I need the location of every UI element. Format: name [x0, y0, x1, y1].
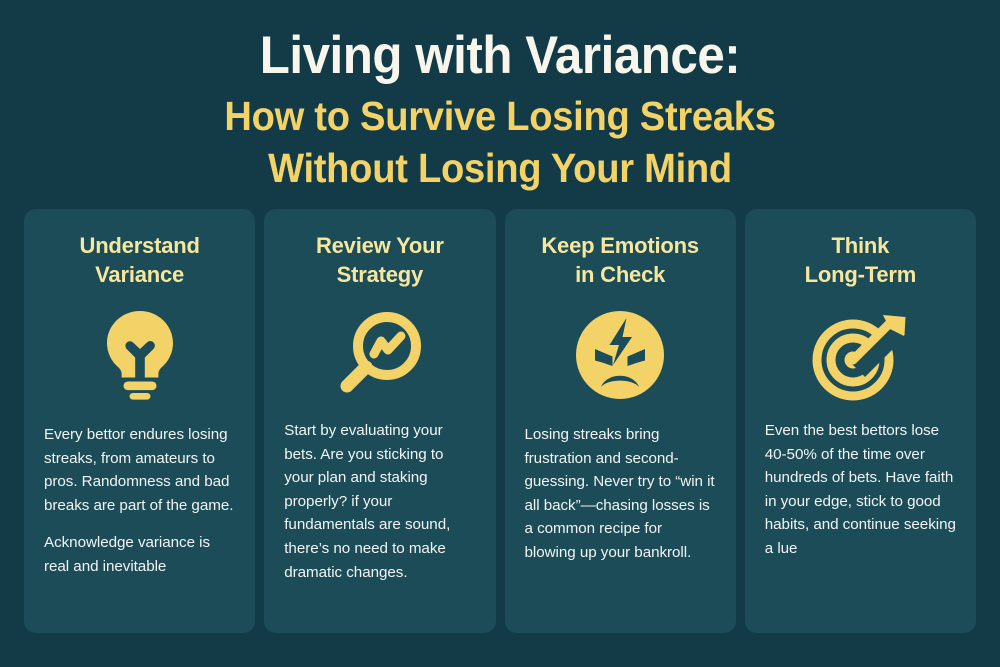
page-title: Living with Variance: [57, 28, 942, 84]
card-title-line-1: Understand [80, 231, 200, 260]
card-title: Think Long-Term [805, 231, 916, 290]
card-title-line-2: Variance [80, 260, 200, 289]
card-title-line-1: Think [805, 231, 916, 260]
card-paragraph: Losing streaks bring frustration and sec… [525, 423, 716, 565]
card-grid: Understand Variance Every bettor endures… [0, 209, 1000, 667]
card-body: Losing streaks bring frustration and sec… [525, 423, 716, 565]
card-body: Even the best bettors lose 40-50% of the… [765, 419, 956, 561]
card-body: Every bettor endures losing streaks, fro… [44, 423, 235, 579]
card-think-long-term[interactable]: Think Long-Term [745, 209, 976, 633]
card-paragraph: Even the best bettors lose 40-50% of the… [765, 419, 956, 561]
card-paragraph: Every bettor endures losing streaks, fro… [44, 423, 235, 517]
card-title-line-1: Keep Emotions [541, 231, 699, 260]
page-subtitle: How to Survive Losing Streaks Without Lo… [57, 90, 942, 195]
card-title: Review Your Strategy [316, 231, 444, 290]
card-title-line-2: Long-Term [805, 260, 916, 289]
card-keep-emotions-in-check[interactable]: Keep Emotions in Check [505, 209, 736, 633]
page-subtitle-line-1: How to Survive Losing Streaks [57, 90, 942, 142]
card-paragraph: Acknowledge variance is real and inevita… [44, 531, 235, 578]
card-title-line-2: in Check [541, 260, 699, 289]
card-title-line-1: Review Your [316, 231, 444, 260]
angry-face-icon [574, 305, 666, 405]
lightbulb-icon [103, 305, 177, 405]
card-title: Keep Emotions in Check [541, 231, 699, 290]
page-subtitle-line-2: Without Losing Your Mind [57, 142, 942, 194]
infographic-root: Living with Variance: How to Survive Los… [0, 0, 1000, 667]
card-title-line-2: Strategy [316, 260, 444, 289]
card-understand-variance[interactable]: Understand Variance Every bettor endures… [24, 209, 255, 633]
card-body: Start by evaluating your bets. Are you s… [284, 419, 475, 584]
magnifier-chart-icon [335, 305, 425, 401]
header: Living with Variance: How to Survive Los… [0, 0, 1000, 195]
target-arrow-icon [811, 305, 909, 401]
card-title: Understand Variance [80, 231, 200, 290]
card-review-your-strategy[interactable]: Review Your Strategy Start by evaluating… [264, 209, 495, 633]
card-paragraph: Start by evaluating your bets. Are you s… [284, 419, 475, 584]
